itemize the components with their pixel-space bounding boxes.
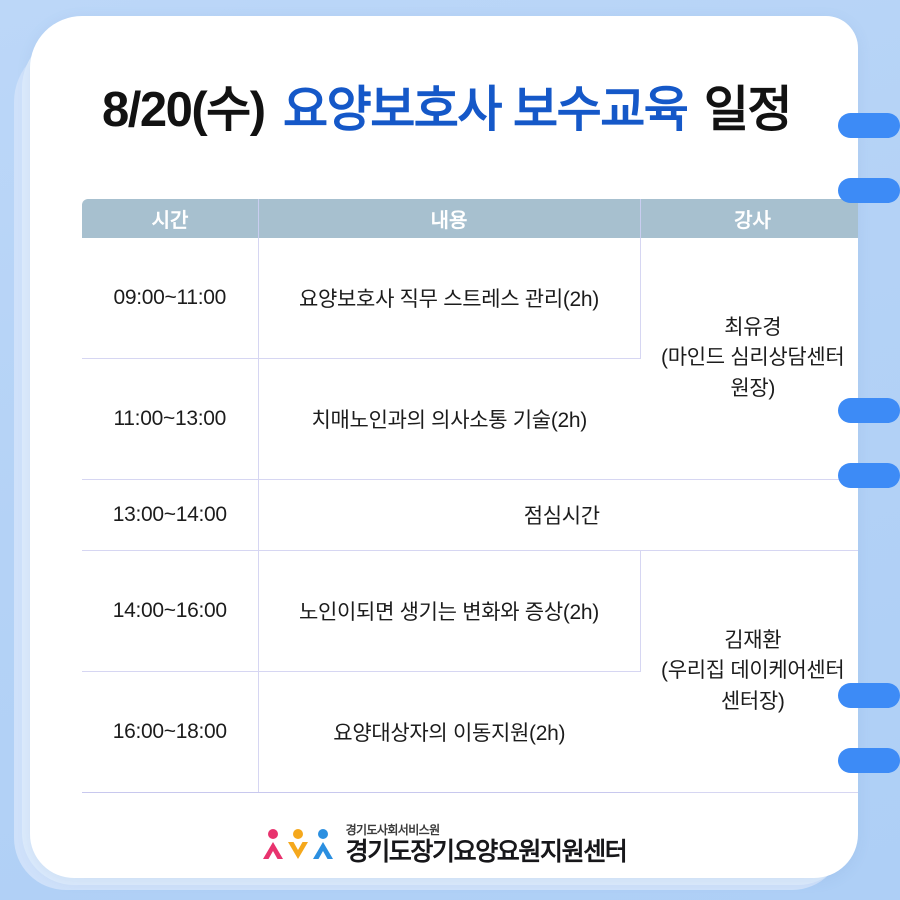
logo-title: 경기도장기요양요원지원센터 xyxy=(346,840,627,865)
binder-tab-2 xyxy=(838,178,900,203)
cell-time: 09:00~11:00 xyxy=(82,238,258,359)
column-header-instructor: 강사 xyxy=(640,199,858,238)
column-header-content: 내용 xyxy=(258,199,640,238)
cell-instructor: 최유경(마인드 심리상담센터원장) xyxy=(640,238,858,480)
cell-content: 노인이되면 생기는 변화와 증상(2h) xyxy=(258,551,640,672)
cell-content-lunch: 점심시간 xyxy=(258,480,858,551)
footer-logo: 경기도사회서비스원 경기도장기요양요원지원센터 xyxy=(30,824,858,865)
binder-tab-1 xyxy=(838,113,900,138)
table-header-row: 시간 내용 강사 xyxy=(82,199,858,238)
table-row: 09:00~11:00 요양보호사 직무 스트레스 관리(2h) 최유경(마인드… xyxy=(82,238,858,359)
title-tail: 일정 xyxy=(704,83,791,137)
cell-time: 14:00~16:00 xyxy=(82,551,258,672)
page-title: 8/20(수) 요양보호사 보수교육 일정 xyxy=(102,86,791,135)
logo-subtitle: 경기도사회서비스원 xyxy=(346,824,627,836)
table-row-lunch: 13:00~14:00 점심시간 xyxy=(82,480,858,551)
cell-content: 요양보호사 직무 스트레스 관리(2h) xyxy=(258,238,640,359)
column-header-time: 시간 xyxy=(82,199,258,238)
binder-tab-6 xyxy=(838,748,900,773)
poster-canvas: 8/20(수) 요양보호사 보수교육 일정 시간 내용 강사 09:00~11:… xyxy=(0,0,900,900)
binder-tab-3 xyxy=(838,398,900,423)
cell-content: 치매노인과의 의사소통 기술(2h) xyxy=(258,359,640,480)
three-people-logo-icon xyxy=(262,828,334,862)
schedule-table: 시간 내용 강사 09:00~11:00 요양보호사 직무 스트레스 관리(2h… xyxy=(82,199,858,793)
binder-tab-4 xyxy=(838,463,900,488)
cell-time: 13:00~14:00 xyxy=(82,480,258,551)
cell-time: 16:00~18:00 xyxy=(82,672,258,793)
binder-tab-5 xyxy=(838,683,900,708)
logo-text: 경기도사회서비스원 경기도장기요양요원지원센터 xyxy=(346,824,627,865)
title-date: 8/20(수) xyxy=(102,83,265,137)
cell-content: 요양대상자의 이동지원(2h) xyxy=(258,672,640,793)
cell-time: 11:00~13:00 xyxy=(82,359,258,480)
schedule-card: 8/20(수) 요양보호사 보수교육 일정 시간 내용 강사 09:00~11:… xyxy=(30,16,858,878)
cell-instructor: 김재환(우리집 데이케어센터센터장) xyxy=(640,551,858,793)
table-row: 14:00~16:00 노인이되면 생기는 변화와 증상(2h) 김재환(우리집… xyxy=(82,551,858,672)
title-highlight: 요양보호사 보수교육 xyxy=(283,83,687,137)
